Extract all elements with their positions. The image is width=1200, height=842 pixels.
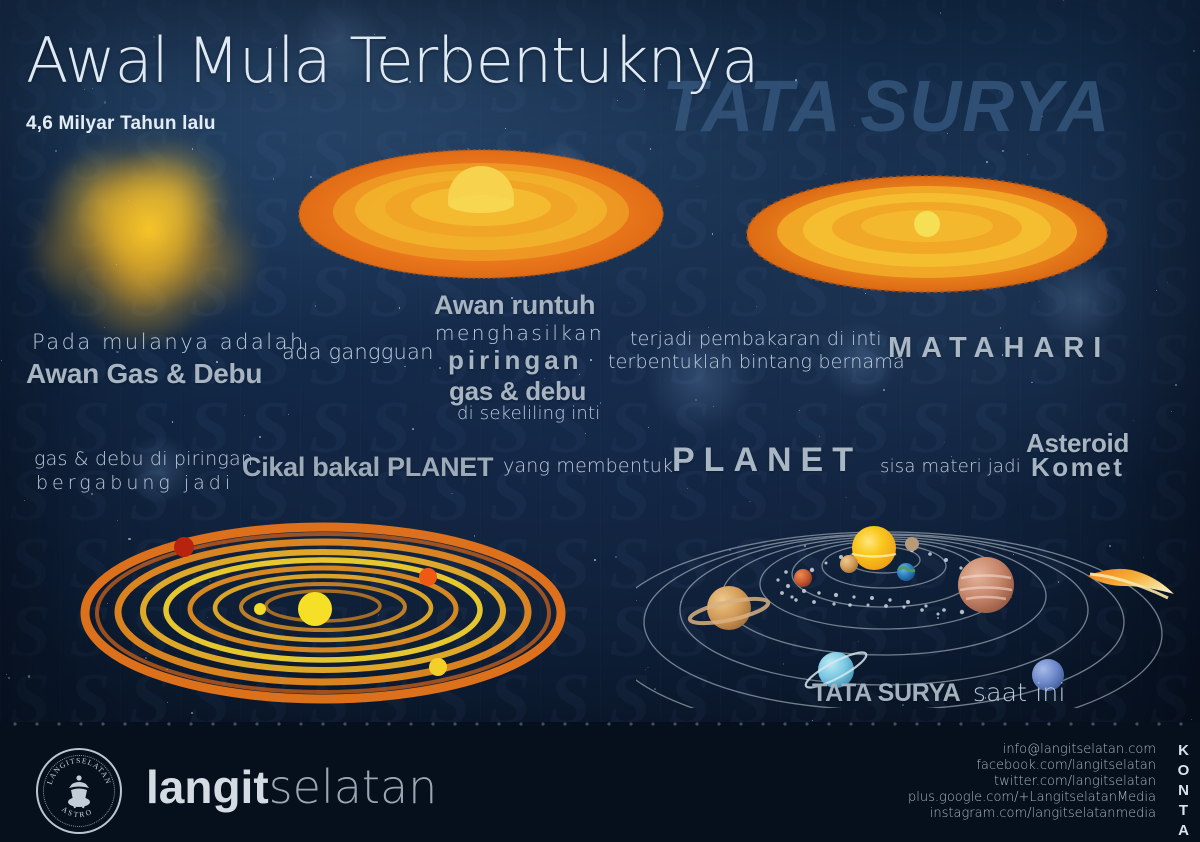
label-stage1-light: Pada mulanya adalah xyxy=(32,330,306,354)
comet-icon xyxy=(1088,569,1174,598)
caption-light: saat ini xyxy=(973,678,1066,707)
label-stage3-bold-2: piringan xyxy=(448,345,583,376)
label-stage2-light: ada gangguan xyxy=(282,340,434,364)
label-stage5-light-1: gas & debu di piringan xyxy=(34,448,253,470)
footer-divider xyxy=(0,722,1200,726)
kontak-label: KONTAK xyxy=(1175,742,1192,842)
label-stage3-light-1: menghasilkan xyxy=(435,321,604,345)
svg-text:LANGITSELATAN: LANGITSELATAN xyxy=(45,756,113,786)
langitselatan-logo-icon: LANGITSELATAN ASTRO xyxy=(36,748,122,834)
collapsing-cloud-disk-icon xyxy=(296,140,666,285)
gas-and-dust-cloud-icon xyxy=(24,120,264,350)
contact-facebook[interactable]: facebook.com/langitselatan xyxy=(756,758,1156,774)
present-day-solar-system-icon xyxy=(636,498,1196,708)
planetesimal-orange xyxy=(419,568,437,586)
label-stage1-bold: Awan Gas & Debu xyxy=(26,358,262,390)
label-stage4-light-2: terbentuklah bintang bernama xyxy=(608,351,905,373)
page-title-main: Awal Mula Terbentuknya xyxy=(26,24,759,97)
planetesimal-red xyxy=(174,537,194,557)
planetesimal-yellow xyxy=(429,658,447,676)
contact-gplus[interactable]: plus.google.com/+LangitselatanMedia xyxy=(756,790,1156,806)
label-stage6-light: yang membentuk xyxy=(503,455,673,477)
caption-bold: TATA SURYA xyxy=(812,679,960,707)
saturn-icon xyxy=(688,586,770,630)
label-stage5-light-2: bergabung jadi xyxy=(36,472,234,494)
label-stage4-light-1: terjadi pembakaran di inti xyxy=(630,328,882,350)
contact-instagram[interactable]: instagram.com/langitselatanmedia xyxy=(756,806,1156,822)
forming-star xyxy=(298,592,332,626)
contact-twitter[interactable]: twitter.com/langitselatan xyxy=(756,774,1156,790)
label-stage3-bold-1: Awan runtuh xyxy=(434,290,595,321)
mars-icon xyxy=(794,569,812,587)
infographic-poster: SSSSSSSSSSSSSSSSSSSSSSSSSSSSSSSSSSSSSSSS… xyxy=(0,0,1200,842)
caption-tata-surya-saat-ini: TATA SURYA saat ini xyxy=(812,678,1066,708)
label-komet: Komet xyxy=(1031,452,1124,483)
label-matahari: MATAHARI xyxy=(888,332,1110,365)
contact-email[interactable]: info@langitselatan.com xyxy=(756,742,1156,758)
mercury-icon xyxy=(905,537,919,551)
jupiter-icon xyxy=(958,557,1014,613)
protostar-disk-icon xyxy=(742,168,1112,303)
label-cikal-bakal-planet: Cikal bakal PLANET xyxy=(242,452,493,483)
venus-icon xyxy=(840,555,858,573)
sun-icon xyxy=(852,526,896,570)
label-stage3-light-2: di sekeliling inti xyxy=(457,403,600,424)
label-planet: PLANET xyxy=(672,441,862,480)
planetesimal-inner xyxy=(254,603,266,615)
contact-list: info@langitselatan.com facebook.com/lang… xyxy=(756,742,1156,822)
brand-light: selatan xyxy=(269,760,438,814)
protoplanetary-disk-icon xyxy=(78,516,568,706)
brand-bold: langit xyxy=(146,761,269,813)
brand-wordmark: langitselatan xyxy=(146,760,437,814)
label-stage7-light: sisa materi jadi xyxy=(880,456,1021,477)
